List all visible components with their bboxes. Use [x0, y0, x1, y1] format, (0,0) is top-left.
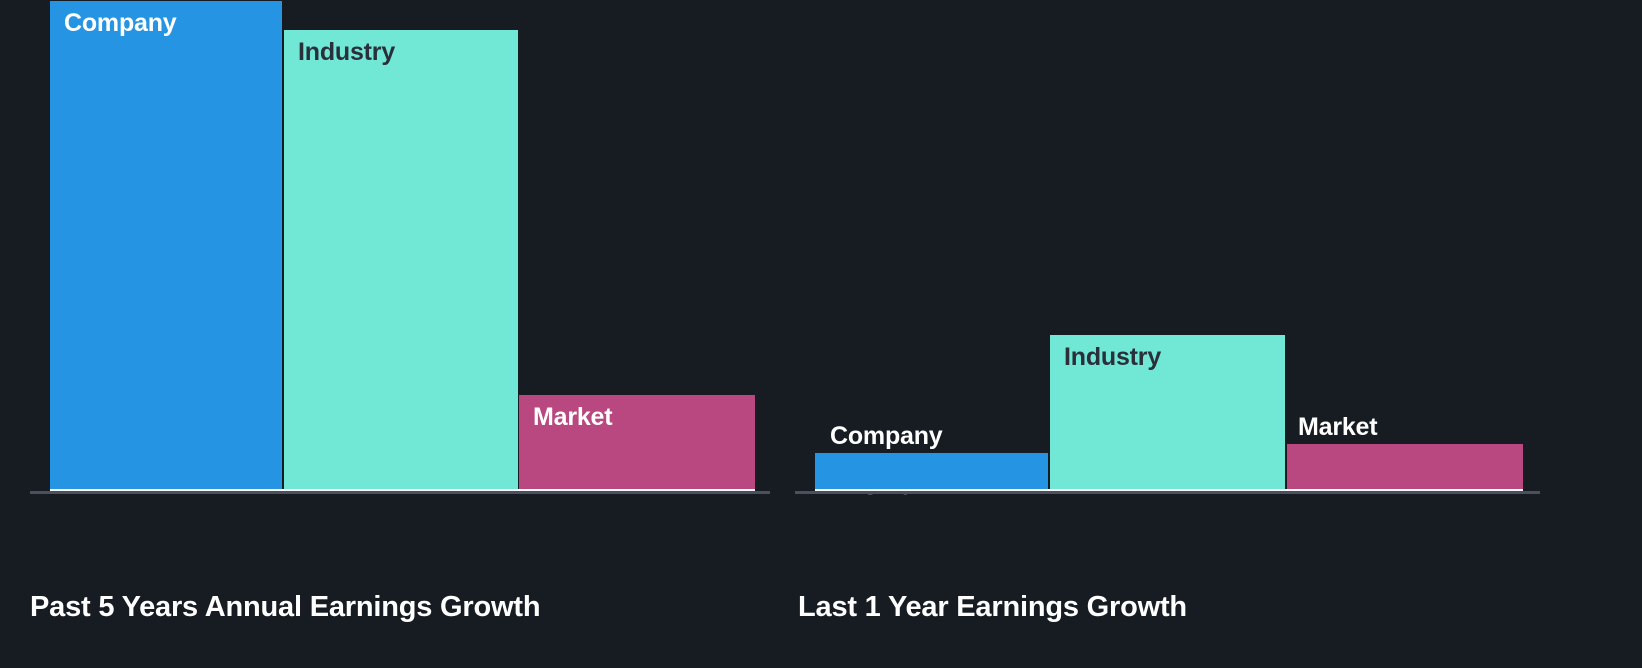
left-bar-market[interactable]: Market — [519, 395, 755, 492]
right-axis-line — [795, 491, 1540, 494]
left-plot-area: 60.2% 56.7% 11.9% Company Industry Marke… — [0, 0, 790, 580]
right-plot-area: Company 4.8% 19.2% Market 5.9% Industry — [790, 0, 1642, 580]
right-bar-industry-label: Industry — [1064, 343, 1161, 372]
left-bar-company[interactable]: Company — [50, 1, 282, 492]
right-bar-market-label: Market — [1298, 415, 1380, 440]
right-panel-title: Last 1 Year Earnings Growth — [798, 591, 1187, 624]
earnings-growth-chart: 60.2% 56.7% 11.9% Company Industry Marke… — [0, 0, 1642, 668]
left-bar-company-label: Company — [64, 9, 177, 38]
right-bar-market[interactable] — [1287, 444, 1523, 492]
left-panel-title: Past 5 Years Annual Earnings Growth — [30, 591, 540, 624]
left-bar-market-label: Market — [533, 403, 612, 432]
left-bar-industry-label: Industry — [298, 38, 395, 67]
right-bar-industry[interactable]: Industry — [1050, 335, 1285, 492]
left-axis-line — [30, 491, 770, 494]
right-bar-company[interactable] — [815, 453, 1048, 492]
panel-past-5-years: 60.2% 56.7% 11.9% Company Industry Marke… — [0, 0, 790, 668]
right-bar-company-label: Company — [830, 424, 943, 449]
panel-last-1-year: Company 4.8% 19.2% Market 5.9% Industry … — [790, 0, 1642, 668]
left-bar-industry[interactable]: Industry — [284, 30, 518, 492]
